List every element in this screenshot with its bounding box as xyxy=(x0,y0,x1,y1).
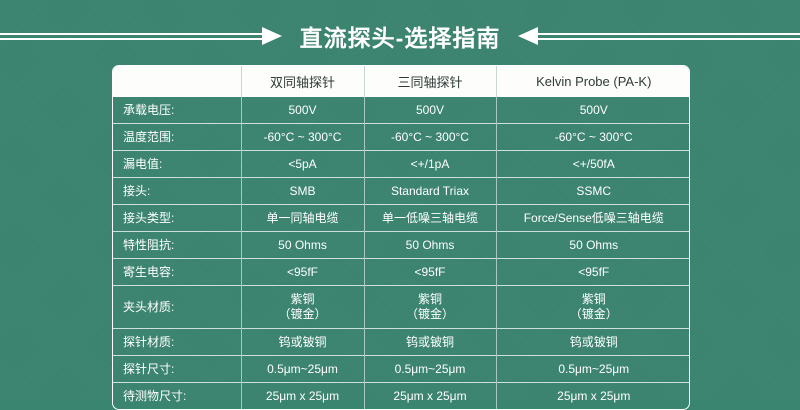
table-cell: 500V xyxy=(496,97,690,124)
table-row: 待测物尺寸:25μm x 25μm25μm x 25μm25μm x 25μm xyxy=(113,383,690,410)
row-label: 探针尺寸: xyxy=(113,356,241,383)
row-label: 温度范围: xyxy=(113,124,241,151)
row-label: 特性阻抗: xyxy=(113,232,241,259)
cell-line-1: 紫铜 xyxy=(245,292,361,307)
probe-spec-table: 双同轴探针 三同轴探针 Kelvin Probe (PA-K) 承载电压:500… xyxy=(113,66,690,409)
table-row: 温度范围:-60°C ~ 300°C-60°C ~ 300°C-60°C ~ 3… xyxy=(113,124,690,151)
table-cell: 0.5μm~25μm xyxy=(241,356,364,383)
table-cell: 单一同轴电缆 xyxy=(241,205,364,232)
arrow-line-top xyxy=(538,33,800,35)
table-cell: 钨或铍铜 xyxy=(364,329,496,356)
table-cell: 紫铜（镀金） xyxy=(364,286,496,329)
table-cell: <+/1pA xyxy=(364,151,496,178)
cell-line-2: （镀金） xyxy=(500,307,689,322)
table-cell: 钨或铍铜 xyxy=(241,329,364,356)
table-cell: 0.5μm~25μm xyxy=(496,356,690,383)
table-cell: 500V xyxy=(241,97,364,124)
table-cell: 0.5μm~25μm xyxy=(364,356,496,383)
row-label: 探针材质: xyxy=(113,329,241,356)
table-header-row: 双同轴探针 三同轴探针 Kelvin Probe (PA-K) xyxy=(113,66,690,97)
table-row: 特性阻抗:50 Ohms50 Ohms50 Ohms xyxy=(113,232,690,259)
arrow-left-icon xyxy=(518,27,800,45)
table-row: 承载电压:500V500V500V xyxy=(113,97,690,124)
cell-line-2: （镀金） xyxy=(245,307,361,322)
table-cell: <95fF xyxy=(496,259,690,286)
table-header: 双同轴探针 三同轴探针 Kelvin Probe (PA-K) xyxy=(113,66,690,97)
table-cell: 25μm x 25μm xyxy=(241,383,364,410)
cell-line-1: 紫铜 xyxy=(368,292,493,307)
column-header-blank xyxy=(113,66,241,97)
table-cell: 25μm x 25μm xyxy=(364,383,496,410)
table-cell: 50 Ohms xyxy=(241,232,364,259)
table-cell: <+/50fA xyxy=(496,151,690,178)
table-row: 夹头材质:紫铜（镀金）紫铜（镀金）紫铜（镀金） xyxy=(113,286,690,329)
table-cell: -60°C ~ 300°C xyxy=(364,124,496,151)
table-row: 接头类型:单一同轴电缆单一低噪三轴电缆Force/Sense低噪三轴电缆 xyxy=(113,205,690,232)
row-label: 寄生电容: xyxy=(113,259,241,286)
cell-line-1: 紫铜 xyxy=(500,292,689,307)
arrow-head-left xyxy=(518,27,538,45)
row-label: 漏电值: xyxy=(113,151,241,178)
table-cell: Standard Triax xyxy=(364,178,496,205)
table-cell: 50 Ohms xyxy=(364,232,496,259)
column-header-dual-coax: 双同轴探针 xyxy=(241,66,364,97)
table-row: 接头:SMBStandard TriaxSSMC xyxy=(113,178,690,205)
arrow-line-bottom xyxy=(0,38,262,40)
table-cell: <5pA xyxy=(241,151,364,178)
table-cell: Force/Sense低噪三轴电缆 xyxy=(496,205,690,232)
arrow-head-right xyxy=(262,27,282,45)
table-cell: -60°C ~ 300°C xyxy=(241,124,364,151)
table-cell: 50 Ohms xyxy=(496,232,690,259)
column-header-kelvin: Kelvin Probe (PA-K) xyxy=(496,66,690,97)
table-cell: 紫铜（镀金） xyxy=(496,286,690,329)
table-cell: <95fF xyxy=(364,259,496,286)
row-label: 承载电压: xyxy=(113,97,241,124)
table-body: 承载电压:500V500V500V温度范围:-60°C ~ 300°C-60°C… xyxy=(113,97,690,410)
table-row: 探针尺寸:0.5μm~25μm0.5μm~25μm0.5μm~25μm xyxy=(113,356,690,383)
banner-header: 直流探头-选择指南 xyxy=(0,14,800,58)
table-cell: 500V xyxy=(364,97,496,124)
table-cell: 25μm x 25μm xyxy=(496,383,690,410)
table-cell: -60°C ~ 300°C xyxy=(496,124,690,151)
arrow-line-bottom xyxy=(538,38,800,40)
row-label: 待测物尺寸: xyxy=(113,383,241,410)
table-cell: 钨或铍铜 xyxy=(496,329,690,356)
table-cell: 紫铜（镀金） xyxy=(241,286,364,329)
table-cell: SMB xyxy=(241,178,364,205)
page-title: 直流探头-选择指南 xyxy=(282,19,519,53)
table-row: 探针材质:钨或铍铜钨或铍铜钨或铍铜 xyxy=(113,329,690,356)
table-cell: 单一低噪三轴电缆 xyxy=(364,205,496,232)
table-cell: <95fF xyxy=(241,259,364,286)
row-label: 接头类型: xyxy=(113,205,241,232)
table-row: 漏电值:<5pA<+/1pA<+/50fA xyxy=(113,151,690,178)
cell-line-2: （镀金） xyxy=(368,307,493,322)
table-row: 寄生电容:<95fF<95fF<95fF xyxy=(113,259,690,286)
comparison-table: 双同轴探针 三同轴探针 Kelvin Probe (PA-K) 承载电压:500… xyxy=(112,65,690,410)
arrow-right-icon xyxy=(0,27,282,45)
row-label: 接头: xyxy=(113,178,241,205)
row-label: 夹头材质: xyxy=(113,286,241,329)
table-cell: SSMC xyxy=(496,178,690,205)
column-header-triax: 三同轴探针 xyxy=(364,66,496,97)
arrow-line-top xyxy=(0,33,262,35)
